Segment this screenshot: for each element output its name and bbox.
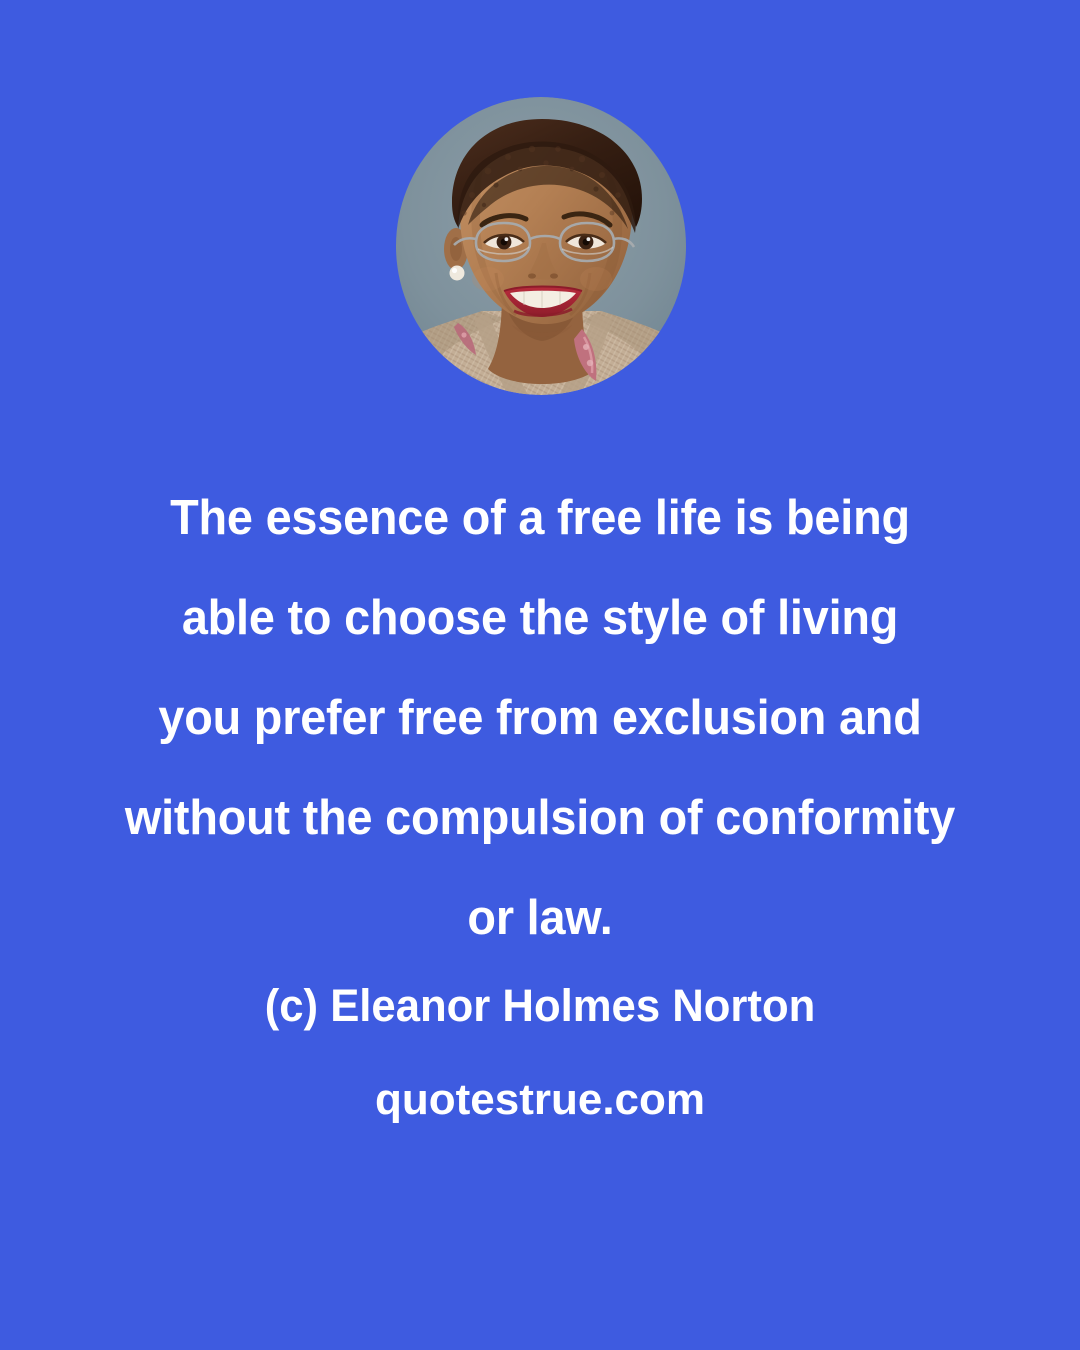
portrait-illustration: [396, 97, 686, 395]
quote-line-3: you prefer free from exclusion and: [24, 668, 1055, 768]
portrait-avatar: [396, 97, 686, 395]
quote-attribution: (c) Eleanor Holmes Norton: [16, 978, 1064, 1034]
earring-pearl: [450, 266, 465, 281]
quote-line-2: able to choose the style of living: [24, 568, 1055, 668]
quote-card: The essence of a free life is being able…: [0, 0, 1080, 1350]
quote-line-1: The essence of a free life is being: [24, 468, 1055, 568]
quote-line-4: without the compulsion of conformity: [24, 768, 1055, 868]
source-website: quotestrue.com: [0, 1072, 1080, 1128]
portrait-content: [396, 97, 686, 395]
quote-text: The essence of a free life is being able…: [0, 468, 1080, 968]
quote-line-5: or law.: [24, 868, 1055, 968]
